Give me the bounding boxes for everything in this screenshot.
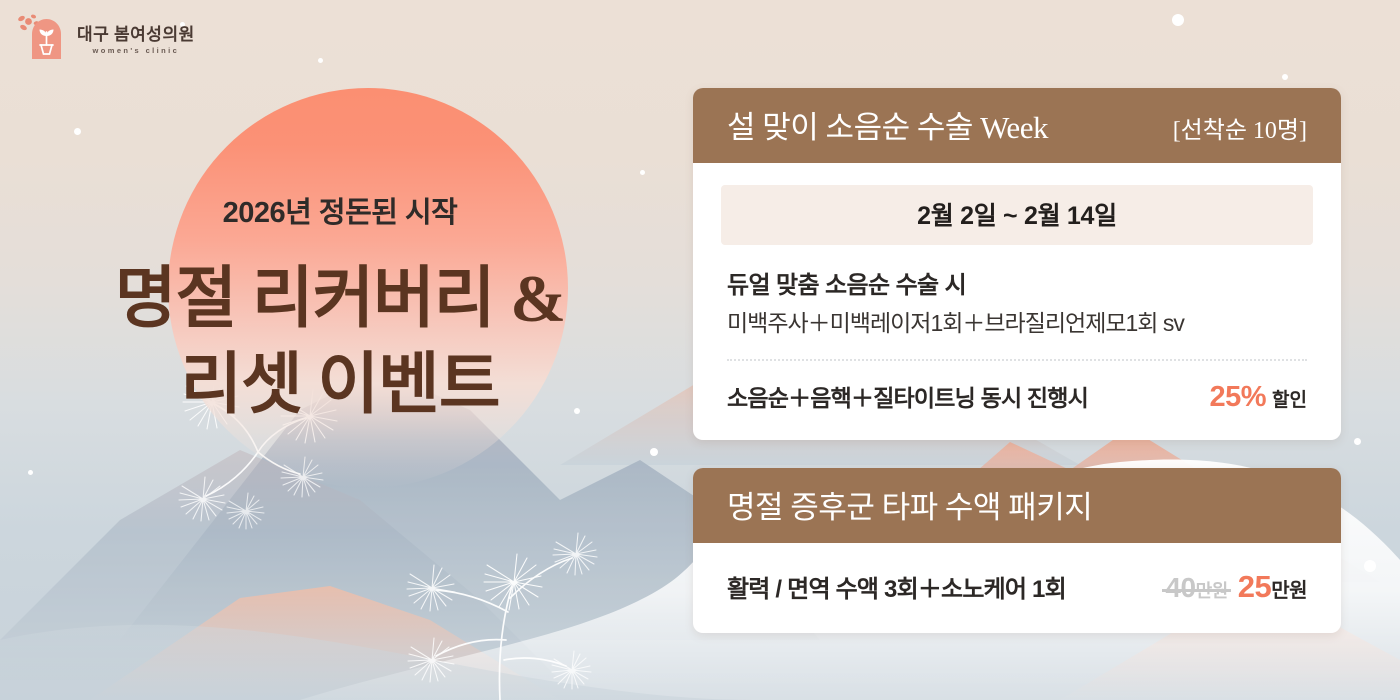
flower-pot-icon [16,12,68,62]
offer-title: 듀얼 맞춤 소음순 수술 시 [727,271,1307,301]
foreground-haze [0,625,760,700]
package-price-row: 활력 / 면역 수액 3회＋소노케어 1회 40만원 25만원 [721,569,1313,605]
section-divider [727,359,1307,361]
mountain-bottom-coral [90,586,560,700]
discount-suffix: 할인 [1272,385,1307,412]
decor-dot [640,170,645,175]
logo-korean-name: 대구 봄여성의원 [77,20,195,45]
event-date-range: 2월 2일 ~ 2월 14일 [721,185,1313,245]
hero-kicker: 2026년 정돈된 시작 [0,196,680,231]
discount-percent: 25% [1209,381,1266,414]
discounted-price: 25만원 [1238,569,1307,605]
offer-cards: 설 맞이 소음순 수술 Week [선착순 10명] 2월 2일 ~ 2월 14… [693,88,1341,633]
card-title: 명절 증후군 타파 수액 패키지 [727,482,1092,527]
promo-banner: 대구 봄여성의원 women's clinic 2026년 정돈된 시작 명절 … [0,0,1400,700]
card-body: 활력 / 면역 수액 3회＋소노케어 1회 40만원 25만원 [693,543,1341,633]
package-prices: 40만원 25만원 [1165,569,1307,605]
card-badge-limited-slots: [선착순 10명] [1173,110,1307,145]
hero-title-line-1: 명절 리커버리 & [0,257,680,343]
decor-dot [1364,560,1376,572]
decor-dot [28,470,33,475]
offer-block: 듀얼 맞춤 소음순 수술 시 미백주사＋미백레이저1회＋브라질리언제모1회 sv [721,271,1313,339]
hero-copy: 2026년 정돈된 시작 명절 리커버리 & 리셋 이벤트 [0,196,680,428]
card-body: 2월 2일 ~ 2월 14일 듀얼 맞춤 소음순 수술 시 미백주사＋미백레이저… [693,163,1341,440]
dandelion-lower-right [407,533,597,700]
offer-card-surgery-week[interactable]: 설 맞이 소음순 수술 Week [선착순 10명] 2월 2일 ~ 2월 14… [693,88,1341,440]
offer-detail: 미백주사＋미백레이저1회＋브라질리언제모1회 sv [727,309,1307,339]
original-price: 40만원 [1165,572,1227,604]
combo-discount-row: 소음순＋음핵＋질타이트닝 동시 진행시 25% 할인 [721,379,1313,414]
package-label: 활력 / 면역 수액 3회＋소노케어 1회 [727,569,1066,604]
decor-dot [74,128,81,135]
clinic-logo[interactable]: 대구 봄여성의원 women's clinic [16,12,195,62]
card-header: 설 맞이 소음순 수술 Week [선착순 10명] [693,88,1341,163]
hero-title-line-2: 리셋 이벤트 [0,343,680,429]
logo-english-name: women's clinic [93,46,180,55]
combo-label: 소음순＋음핵＋질타이트닝 동시 진행시 [727,379,1088,413]
combo-discount: 25% 할인 [1209,381,1307,414]
hero-title: 명절 리커버리 & 리셋 이벤트 [0,257,680,429]
decor-dot [1282,74,1288,80]
card-title: 설 맞이 소음순 수술 Week [727,102,1048,147]
decor-dot [650,448,658,456]
card-header: 명절 증후군 타파 수액 패키지 [693,468,1341,543]
decor-dot [1172,14,1184,26]
mountain-left-soft [0,450,560,680]
decor-dot [1354,438,1361,445]
decor-dot [318,58,323,63]
offer-card-iv-package[interactable]: 명절 증후군 타파 수액 패키지 활력 / 면역 수액 3회＋소노케어 1회 4… [693,468,1341,633]
